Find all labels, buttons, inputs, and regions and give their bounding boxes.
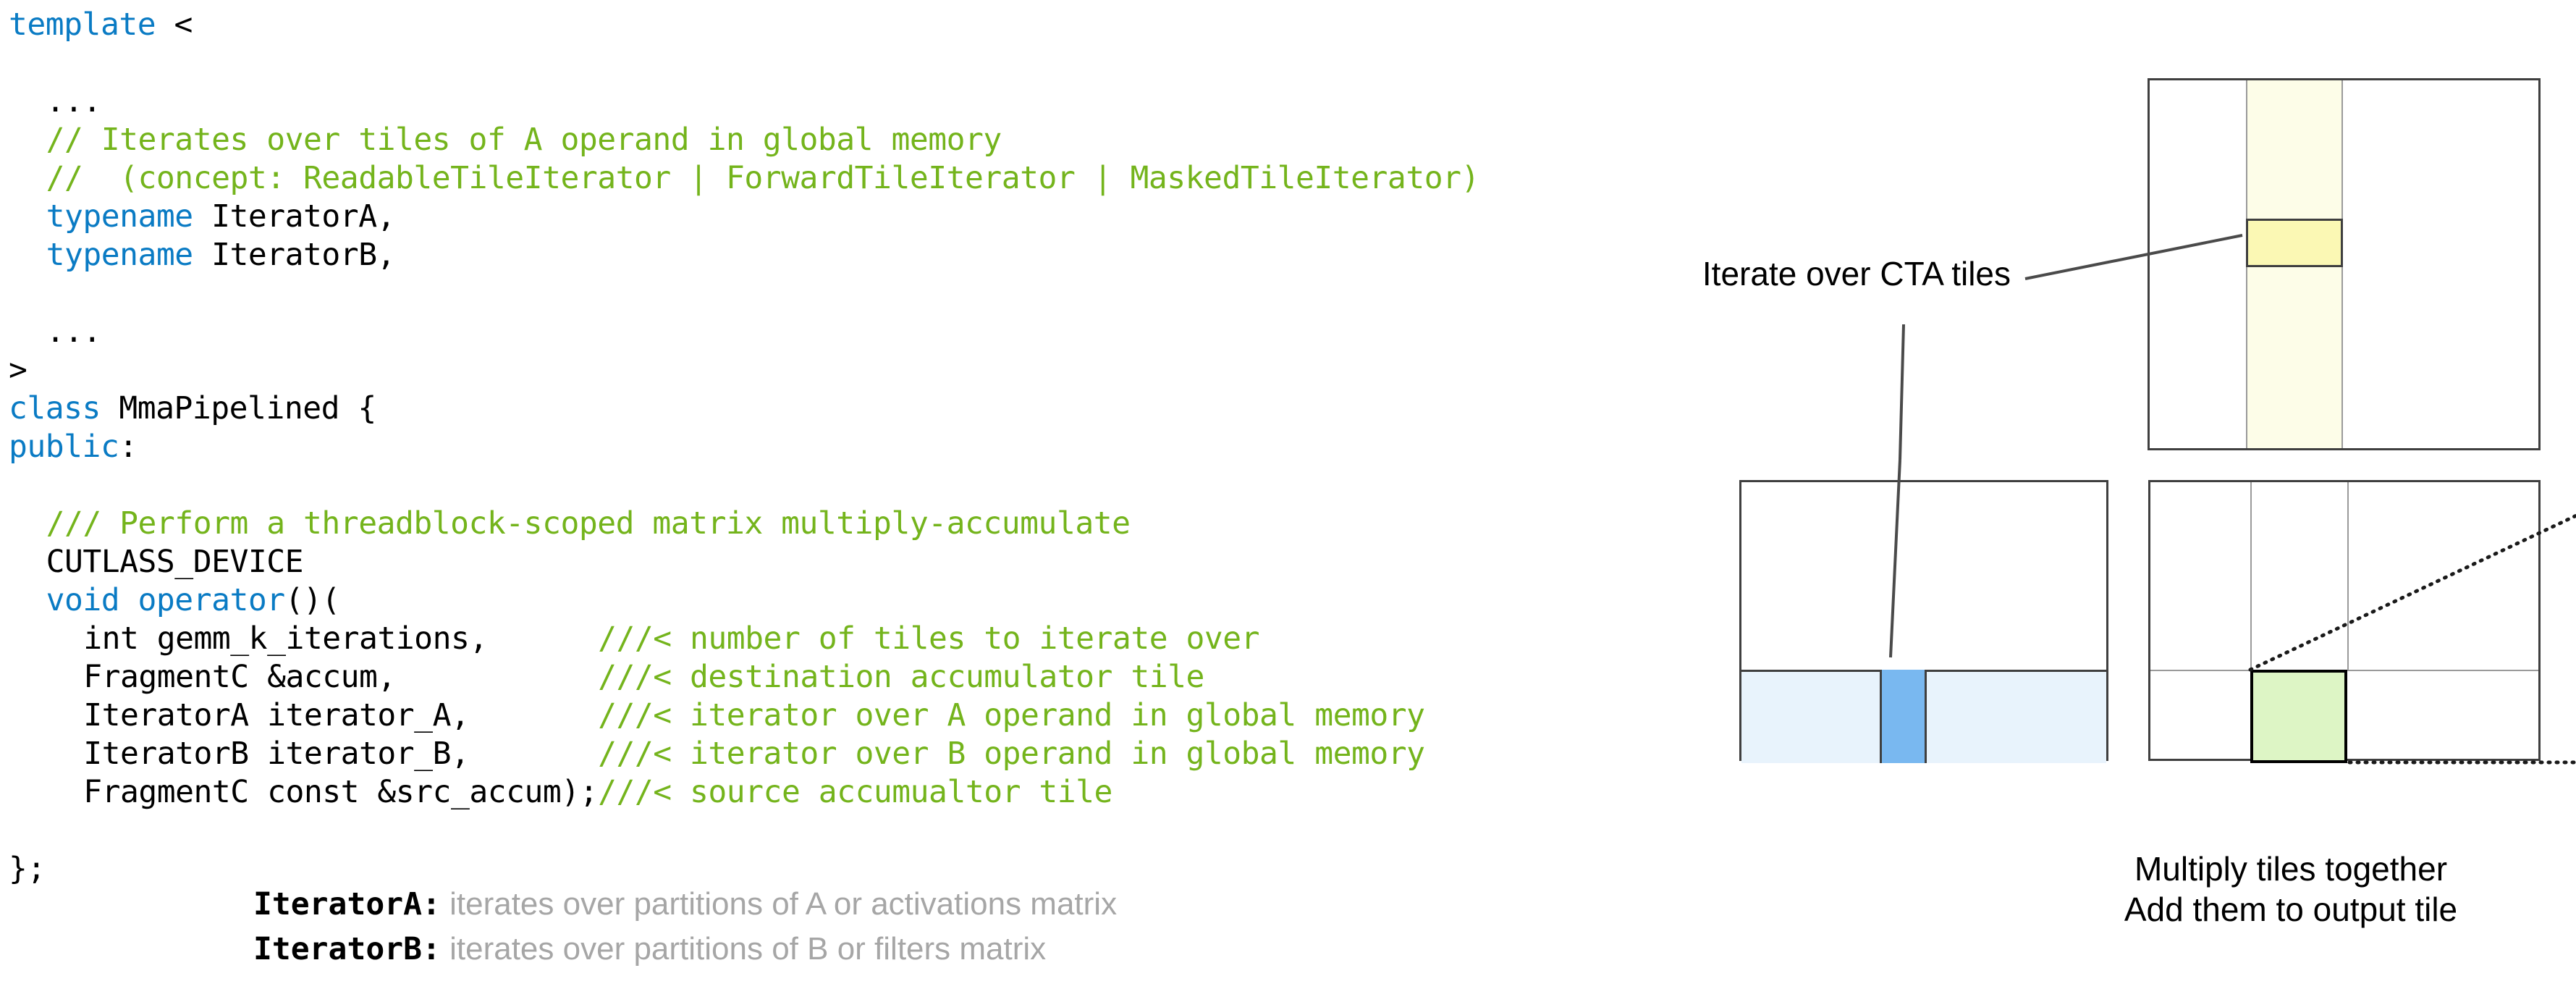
output-grid-hline [2150, 670, 2538, 671]
legend-iterator-description: iterates over partitions of B or filters… [441, 931, 1046, 967]
diagram-box-output-tile [2148, 480, 2541, 761]
code-token-kw: template [9, 7, 156, 43]
code-line: CUTLASS_DEVICE [46, 543, 303, 581]
code-token-cmt: ///< number of tiles to iterate over [598, 620, 1259, 657]
code-line: typename IteratorA, [46, 198, 395, 236]
code-token-cmt: // Iterates over tiles of A operand in g… [46, 122, 1002, 158]
code-token-txt: FragmentC &accum, [83, 659, 598, 695]
code-token-txt: < [156, 7, 193, 43]
code-token-cmt: ///< iterator over B operand in global m… [598, 736, 1424, 772]
leader-line-to-b-tile [2025, 235, 2242, 279]
a-operand-pale-row [1741, 670, 2106, 763]
legend-iterator-name: IteratorB: [253, 931, 441, 967]
code-token-cmt: // (concept: ReadableTileIterator | Forw… [46, 160, 1479, 196]
code-token-kw: typename [46, 198, 193, 235]
code-token-txt: ()( [285, 582, 340, 618]
code-token-cmt: ///< iterator over A operand in global m… [598, 697, 1424, 733]
code-token-txt: }; [9, 851, 46, 887]
code-line: void operator()( [46, 581, 340, 620]
code-token-txt: > [9, 352, 27, 388]
code-line: FragmentC const &src_accum);///< source … [83, 773, 1112, 812]
code-token-txt: CUTLASS_DEVICE [46, 544, 303, 580]
output-grid-vline-2 [2347, 482, 2349, 670]
code-token-txt: MmaPipelined { [101, 390, 376, 426]
code-line: IteratorB iterator_B, ///< iterator over… [83, 735, 1424, 773]
code-token-txt: : [119, 429, 137, 465]
b-operand-active-tile [2246, 219, 2343, 267]
code-token-kw: public [9, 429, 119, 465]
legend-row: IteratorA: iterates over partitions of A… [253, 882, 1629, 927]
output-active-tile [2250, 670, 2347, 763]
code-line: template < [9, 6, 193, 44]
code-token-txt: ... [46, 313, 101, 350]
code-token-txt: IteratorB, [193, 237, 395, 273]
multiply-label-line-2: Add them to output tile [2041, 889, 2541, 930]
a-operand-active-tile [1880, 670, 1927, 763]
code-token-txt: IteratorA iterator_A, [83, 697, 598, 733]
multiply-label-line-1: Multiply tiles together [2041, 849, 2541, 889]
code-line: // (concept: ReadableTileIterator | Forw… [46, 159, 1479, 198]
legend-iterator-name: IteratorA: [253, 886, 441, 922]
code-token-kw: class [9, 390, 101, 426]
code-token-kw: typename [46, 237, 193, 273]
code-line: ... [46, 83, 101, 121]
diagram-box-a-operand [1739, 480, 2108, 761]
code-token-cmt: /// Perform a threadblock-scoped matrix … [46, 505, 1131, 542]
code-token-txt: IteratorB iterator_B, [83, 736, 598, 772]
code-line: IteratorA iterator_A, ///< iterator over… [83, 696, 1424, 735]
legend-row: IteratorB: iterates over partitions of B… [253, 927, 1629, 972]
code-line: > [9, 351, 27, 390]
code-block: template <...// Iterates over tiles of A… [0, 0, 1665, 840]
leader-line-to-a-tile-2 [1891, 460, 1900, 657]
code-line: class MmaPipelined { [9, 390, 376, 428]
leader-line-to-a-tile [1900, 324, 1904, 460]
code-token-txt: int gemm_k_iterations, [83, 620, 598, 657]
code-token-cmt: ///< source accumualtor tile [598, 774, 1112, 810]
code-token-cmt: ///< destination accumulator tile [598, 659, 1204, 695]
code-line: /// Perform a threadblock-scoped matrix … [46, 505, 1131, 543]
code-token-txt: FragmentC const &src_accum); [83, 774, 598, 810]
output-dotted-guides [2148, 480, 2576, 784]
code-line: FragmentC &accum, ///< destination accum… [83, 658, 1204, 696]
code-line: }; [9, 850, 46, 888]
code-token-txt: ... [46, 83, 101, 119]
legend-iterator-description: iterates over partitions of A or activat… [441, 886, 1117, 922]
diagram-box-b-operand [2148, 78, 2541, 450]
code-token-txt: IteratorA, [193, 198, 395, 235]
code-line: typename IteratorB, [46, 236, 395, 274]
output-grid-vline-1 [2250, 482, 2252, 670]
code-line: int gemm_k_iterations, ///< number of ti… [83, 620, 1259, 658]
b-operand-pale-column [2246, 80, 2343, 448]
code-token-kw: void operator [46, 582, 285, 618]
iterator-legend: IteratorA: iterates over partitions of A… [253, 882, 1629, 972]
code-line: ... [46, 313, 101, 351]
code-line: // Iterates over tiles of A operand in g… [46, 121, 1002, 159]
code-line: public: [9, 428, 138, 466]
